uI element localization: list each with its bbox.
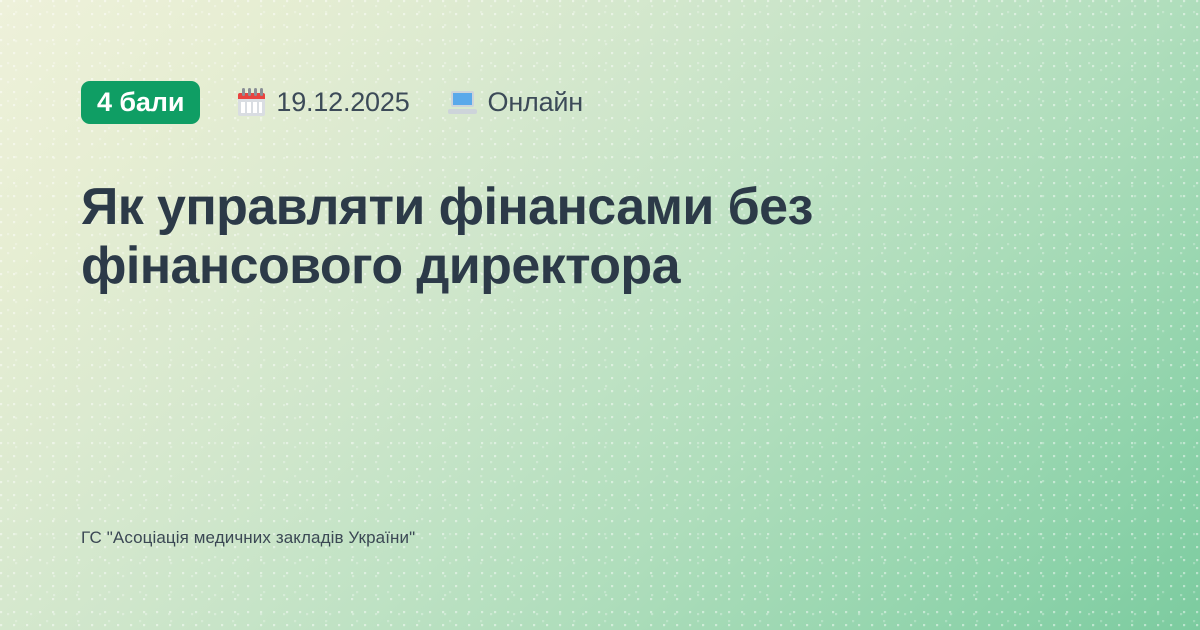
card-content: 4 бали 19.12.2025 Онлайн — [0, 0, 1200, 630]
points-badge: 4 бали — [81, 81, 200, 124]
event-format: Онлайн — [448, 89, 583, 116]
event-format-label: Онлайн — [488, 89, 583, 116]
meta-row: 4 бали 19.12.2025 Онлайн — [81, 80, 583, 124]
event-title: Як управляти фінансами без фінансового д… — [81, 178, 911, 297]
laptop-icon — [448, 90, 477, 114]
calendar-icon — [238, 88, 265, 116]
event-promo-card: 4 бали 19.12.2025 Онлайн — [0, 0, 1200, 630]
event-date-label: 19.12.2025 — [276, 89, 409, 116]
event-date: 19.12.2025 — [238, 88, 409, 116]
organizer-label: ГС "Асоціація медичних закладів України" — [81, 527, 415, 549]
